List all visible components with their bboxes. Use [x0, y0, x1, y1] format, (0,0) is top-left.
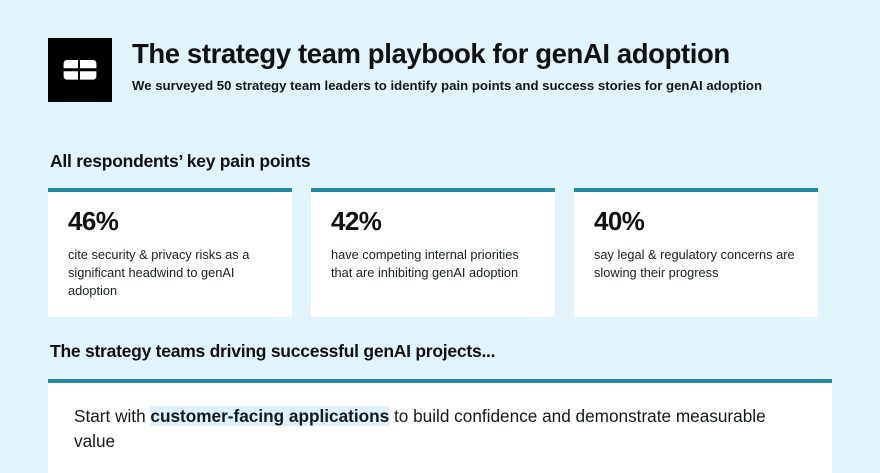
brand-logo	[48, 38, 112, 102]
section-heading-pain-points: All respondents’ key pain points	[50, 151, 310, 172]
stat-card: 46% cite security & privacy risks as a s…	[48, 188, 292, 317]
stat-value: 42%	[331, 206, 537, 237]
page-title: The strategy team playbook for genAI ado…	[132, 39, 838, 70]
success-panel-text: Start with customer-facing applications …	[74, 404, 806, 455]
infographic-page: The strategy team playbook for genAI ado…	[0, 0, 880, 459]
stat-description: have competing internal priorities that …	[331, 246, 537, 283]
pain-points-card-row: 46% cite security & privacy risks as a s…	[48, 188, 818, 317]
stat-value: 40%	[594, 206, 800, 237]
stat-card: 40% say legal & regulatory concerns are …	[574, 188, 818, 317]
header: The strategy team playbook for genAI ado…	[48, 38, 838, 102]
stat-description: say legal & regulatory concerns are slow…	[594, 246, 800, 283]
section-heading-success-projects: The strategy teams driving successful ge…	[50, 341, 495, 362]
stat-card: 42% have competing internal priorities t…	[311, 188, 555, 317]
stat-description: cite security & privacy risks as a signi…	[68, 246, 274, 301]
panel-text-highlight: customer-facing applications	[150, 406, 389, 426]
page-subtitle: We surveyed 50 strategy team leaders to …	[132, 77, 792, 95]
panel-text-before: Start with	[74, 406, 150, 426]
header-text-block: The strategy team playbook for genAI ado…	[132, 38, 838, 94]
grid-panels-logo-icon	[63, 58, 97, 82]
stat-value: 46%	[68, 206, 274, 237]
